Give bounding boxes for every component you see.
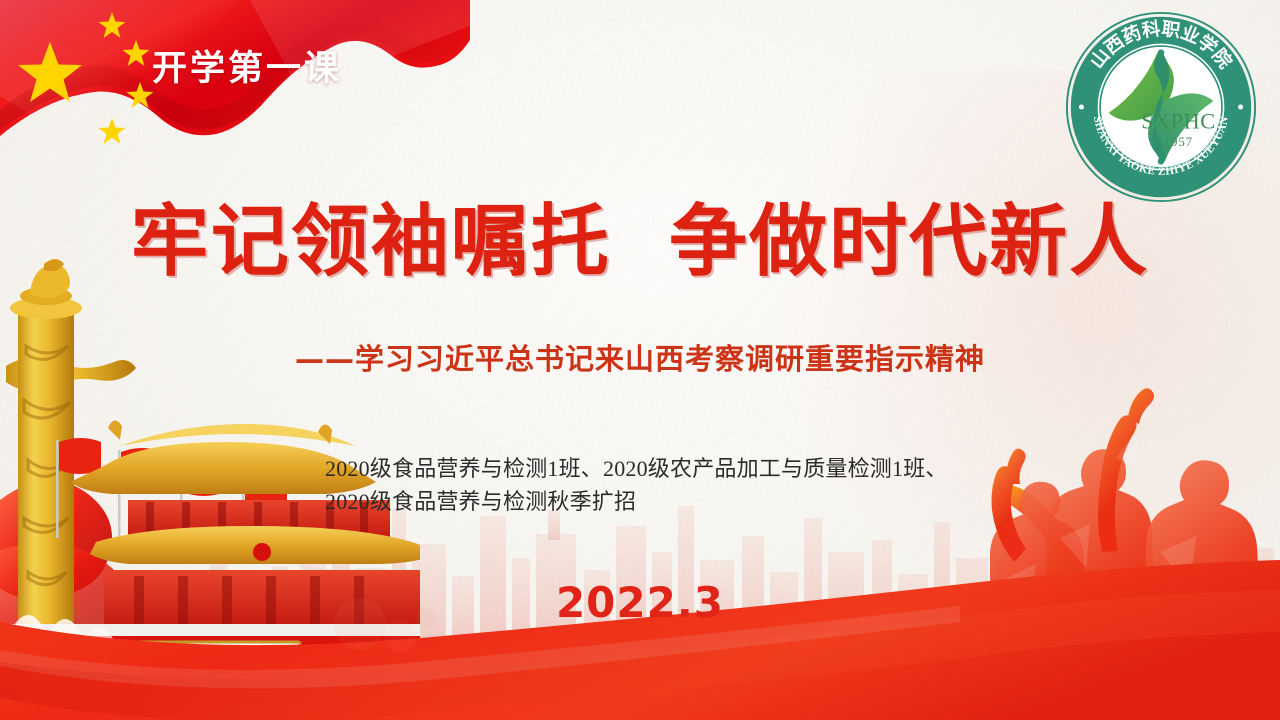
slide-date: 2022.3 <box>0 578 1280 627</box>
slide-subtitle: ——学习习近平总书记来山西考察调研重要指示精神 <box>0 336 1280 378</box>
class-info: 2020级食品营养与检测1班、2020级农产品加工与质量检测1班、 2020级食… <box>325 452 1015 518</box>
slide-main-title: 牢记领袖嘱托 争做时代新人 <box>0 203 1280 281</box>
logo-founding-year: 1957 <box>1164 135 1193 149</box>
logo-abbreviation: SXPHC <box>1141 108 1215 133</box>
presentation-slide: 中华人民共和国万岁 <box>0 0 1280 720</box>
class-info-line-2: 2020级食品营养与检测秋季扩招 <box>325 485 1015 518</box>
banner-label: 开学第一课 <box>152 40 342 91</box>
class-info-line-1: 2020级食品营养与检测1班、2020级农产品加工与质量检测1班、 <box>325 452 1015 485</box>
school-logo: 山西药科职业学院 SHANXI YAOKE ZHIYE XUEYUAN SXPH… <box>1064 10 1258 204</box>
